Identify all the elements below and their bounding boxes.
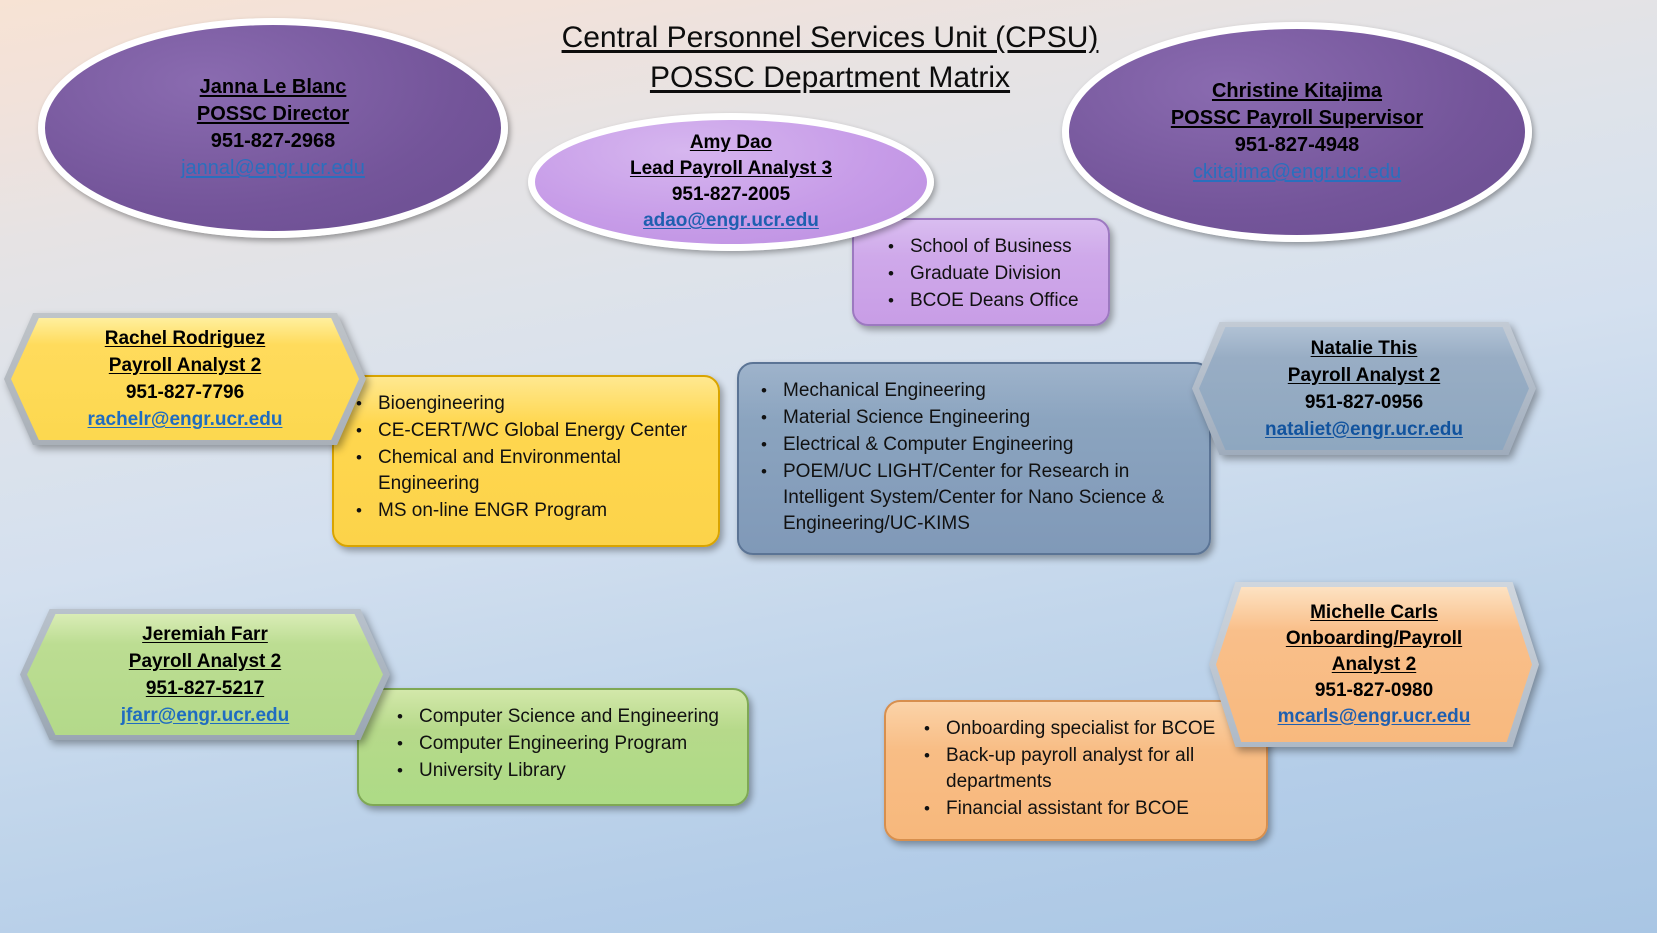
- list-item: Electrical & Computer Engineering: [783, 432, 1191, 458]
- person-role-michelle-line1: Onboarding/Payroll: [1221, 626, 1527, 652]
- person-name-michelle: Michelle Carls: [1221, 600, 1527, 626]
- list-item: CE-CERT/WC Global Energy Center: [378, 418, 700, 444]
- department-list-rachel: Bioengineering CE-CERT/WC Global Energy …: [332, 375, 720, 547]
- list-item: Onboarding specialist for BCOE: [946, 716, 1248, 742]
- person-name-rachel: Rachel Rodriguez: [16, 325, 354, 352]
- person-card-janna-le-blanc[interactable]: Janna Le Blanc POSSC Director 951-827-29…: [38, 18, 508, 238]
- person-email-christine[interactable]: ckitajima@engr.ucr.edu: [1087, 159, 1507, 186]
- person-name-amy: Amy Dao: [553, 130, 909, 156]
- person-role-natalie: Payroll Analyst 2: [1204, 362, 1524, 389]
- person-role-janna: POSSC Director: [63, 101, 483, 128]
- list-item: Material Science Engineering: [783, 405, 1191, 431]
- title-line-1: Central Personnel Services Unit (CPSU): [420, 18, 1240, 58]
- person-email-jeremiah[interactable]: jfarr@engr.ucr.edu: [32, 702, 378, 729]
- person-name-natalie: Natalie This: [1204, 335, 1524, 362]
- person-role-amy: Lead Payroll Analyst 3: [553, 156, 909, 182]
- person-role-jeremiah: Payroll Analyst 2: [32, 648, 378, 675]
- person-phone-michelle: 951-827-0980: [1221, 678, 1527, 704]
- person-email-michelle[interactable]: mcarls@engr.ucr.edu: [1221, 704, 1527, 730]
- person-name-janna: Janna Le Blanc: [63, 74, 483, 101]
- list-item: POEM/UC LIGHT/Center for Research in Int…: [783, 459, 1191, 537]
- person-role-michelle-line2: Analyst 2: [1221, 652, 1527, 678]
- person-phone-amy: 951-827-2005: [553, 182, 909, 208]
- list-item: Chemical and Environmental Engineering: [378, 445, 700, 497]
- person-role-rachel: Payroll Analyst 2: [16, 352, 354, 379]
- person-phone-jeremiah: 951-827-5217: [32, 675, 378, 702]
- list-item: Computer Engineering Program: [419, 731, 729, 757]
- person-email-janna[interactable]: jannal@engr.ucr.edu: [63, 155, 483, 182]
- list-item: Mechanical Engineering: [783, 378, 1191, 404]
- person-card-christine-kitajima[interactable]: Christine Kitajima POSSC Payroll Supervi…: [1062, 22, 1532, 242]
- person-name-jeremiah: Jeremiah Farr: [32, 621, 378, 648]
- list-item: MS on-line ENGR Program: [378, 498, 700, 524]
- list-item: Back-up payroll analyst for all departme…: [946, 743, 1248, 795]
- person-card-jeremiah-farr[interactable]: Jeremiah Farr Payroll Analyst 2 951-827-…: [20, 609, 390, 740]
- department-list-jeremiah: Computer Science and Engineering Compute…: [357, 688, 749, 806]
- list-item: School of Business: [910, 234, 1090, 260]
- list-item: Computer Science and Engineering: [419, 704, 729, 730]
- list-item: Graduate Division: [910, 261, 1090, 287]
- department-list-natalie: Mechanical Engineering Material Science …: [737, 362, 1211, 555]
- person-name-christine: Christine Kitajima: [1087, 78, 1507, 105]
- person-card-michelle-carls[interactable]: Michelle Carls Onboarding/Payroll Analys…: [1209, 582, 1539, 747]
- person-phone-natalie: 951-827-0956: [1204, 389, 1524, 416]
- person-phone-christine: 951-827-4948: [1087, 132, 1507, 159]
- person-card-rachel-rodriguez[interactable]: Rachel Rodriguez Payroll Analyst 2 951-8…: [4, 313, 366, 445]
- person-role-christine: POSSC Payroll Supervisor: [1087, 105, 1507, 132]
- list-item: Bioengineering: [378, 391, 700, 417]
- person-email-rachel[interactable]: rachelr@engr.ucr.edu: [16, 406, 354, 433]
- department-list-amy: School of Business Graduate Division BCO…: [852, 218, 1110, 326]
- person-email-natalie[interactable]: nataliet@engr.ucr.edu: [1204, 416, 1524, 443]
- org-chart-canvas: Central Personnel Services Unit (CPSU) P…: [0, 0, 1657, 933]
- list-item: Financial assistant for BCOE: [946, 796, 1248, 822]
- list-item: BCOE Deans Office: [910, 288, 1090, 314]
- list-item: University Library: [419, 758, 729, 784]
- person-card-natalie-this[interactable]: Natalie This Payroll Analyst 2 951-827-0…: [1192, 322, 1536, 455]
- person-email-amy[interactable]: adao@engr.ucr.edu: [553, 208, 909, 234]
- person-card-amy-dao[interactable]: Amy Dao Lead Payroll Analyst 3 951-827-2…: [528, 113, 934, 251]
- person-phone-janna: 951-827-2968: [63, 128, 483, 155]
- person-phone-rachel: 951-827-7796: [16, 379, 354, 406]
